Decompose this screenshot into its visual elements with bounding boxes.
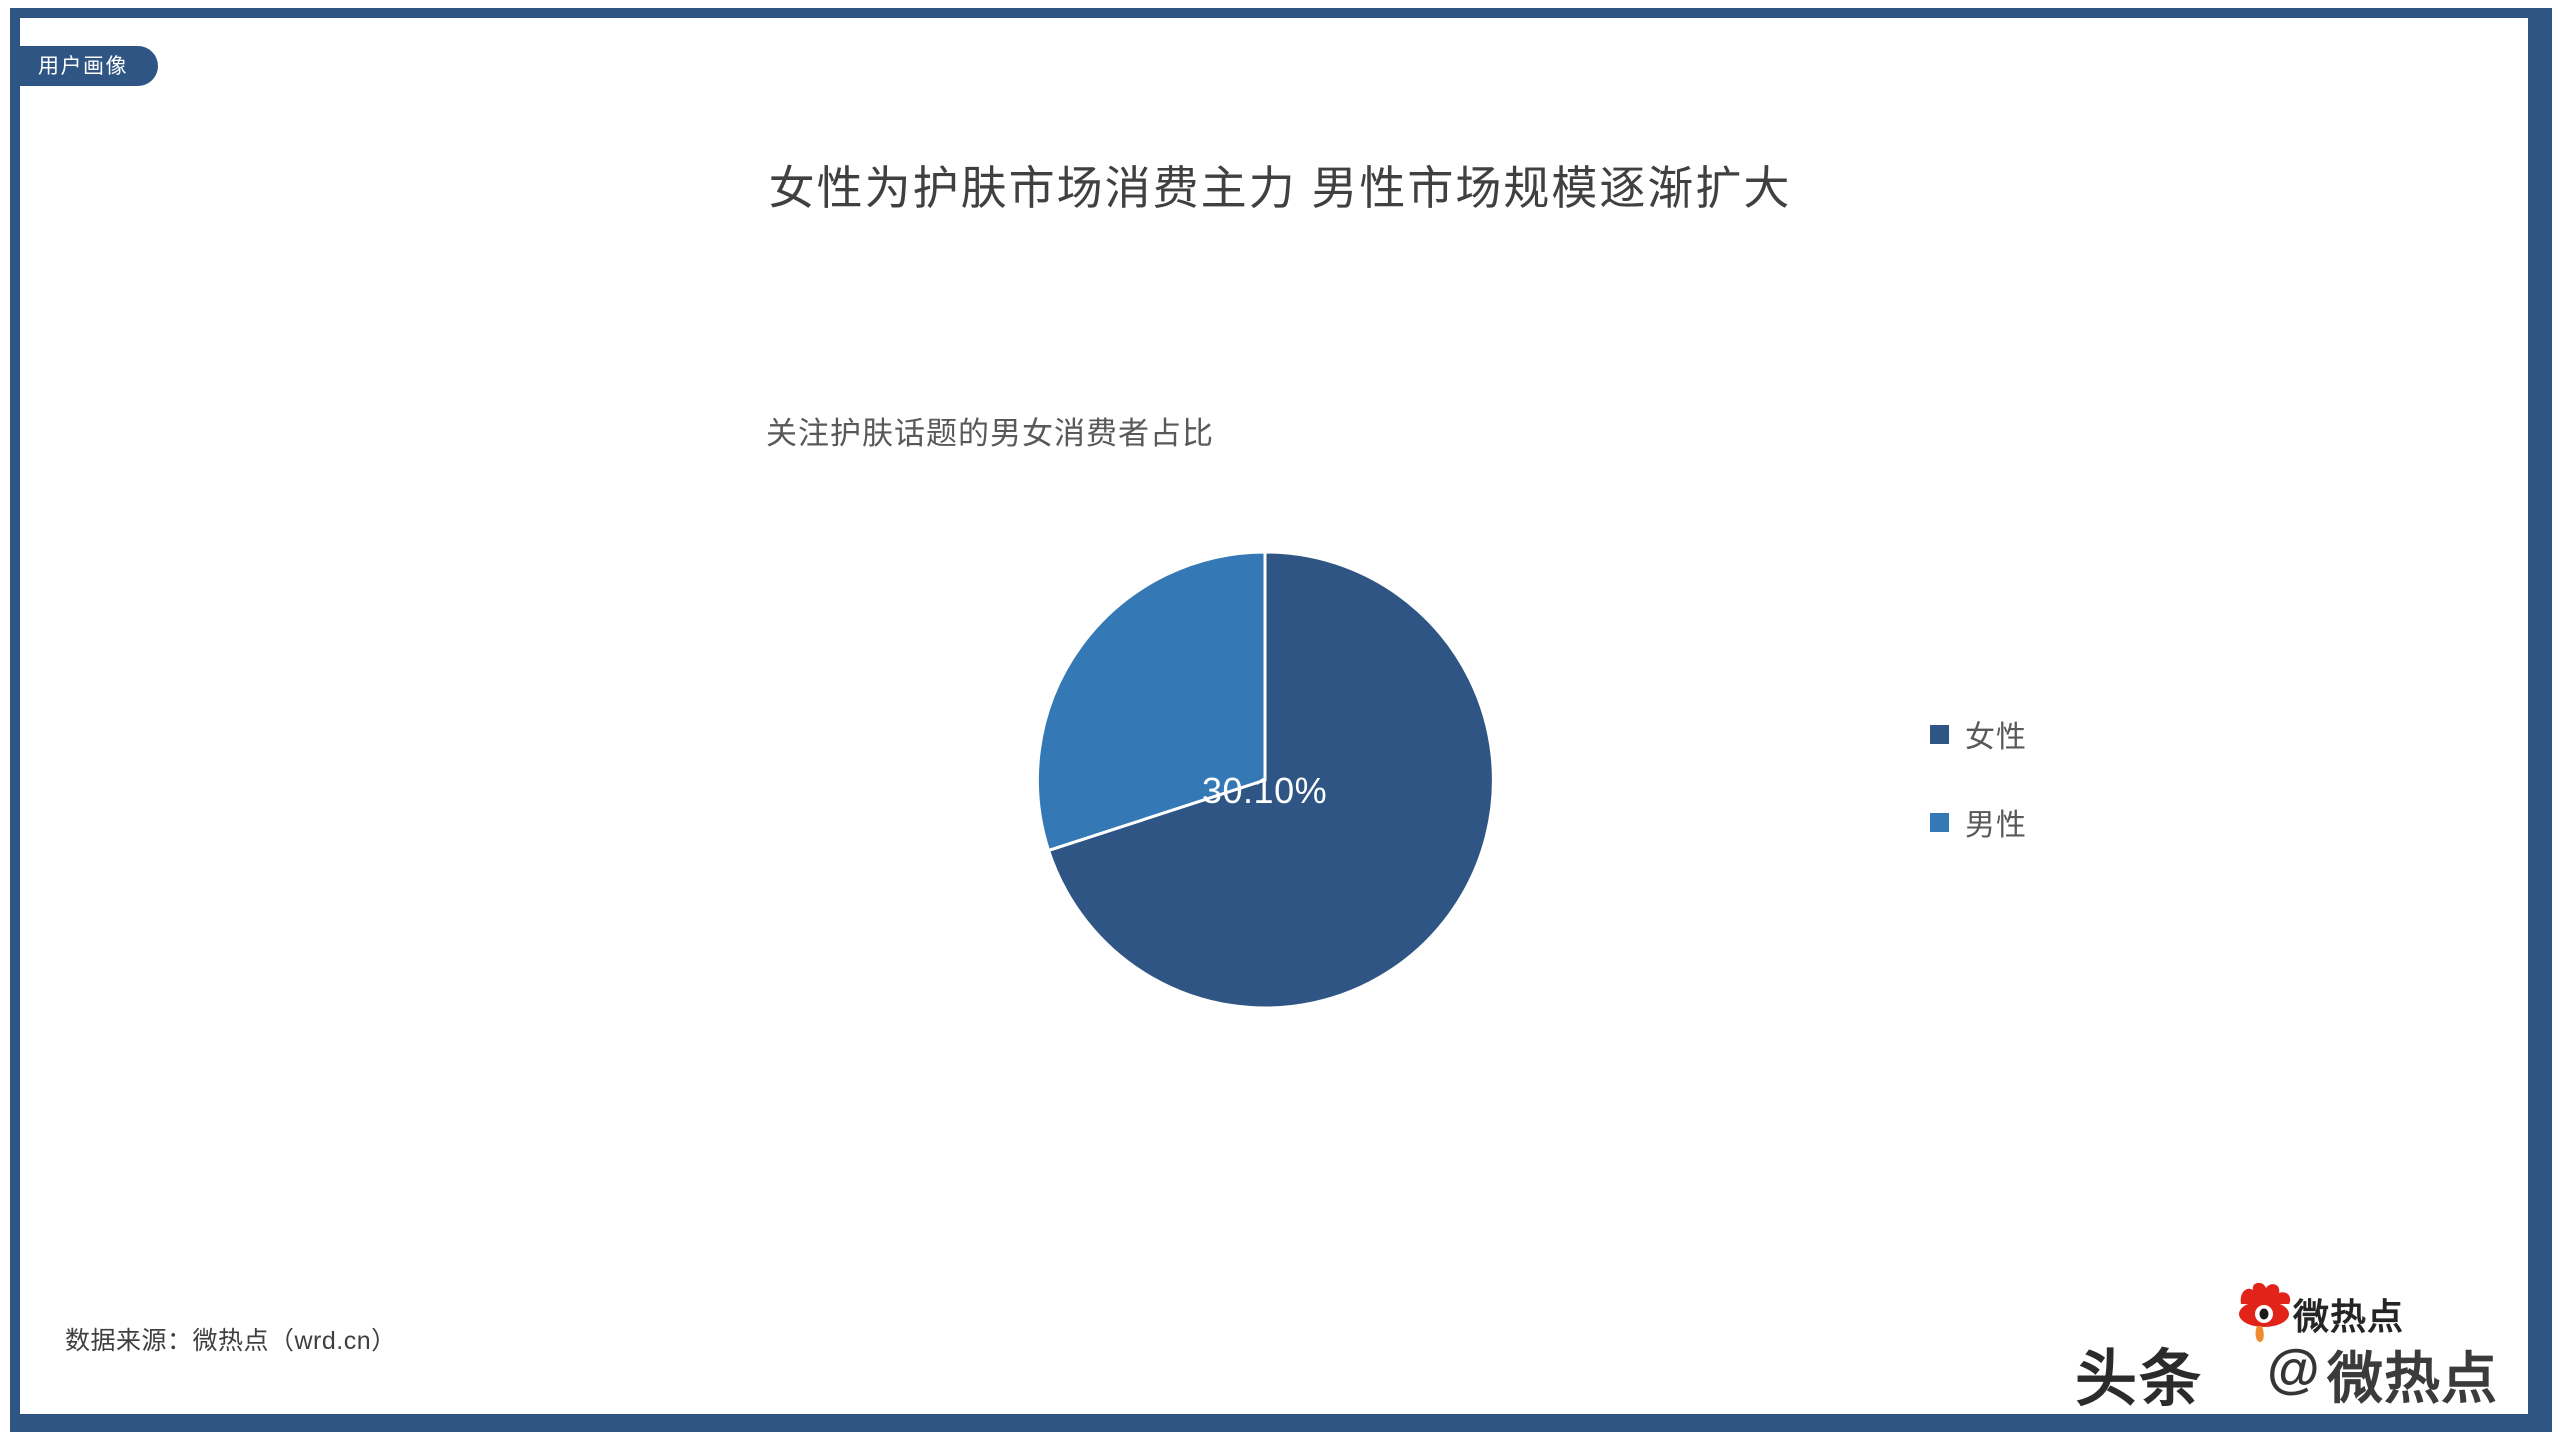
pie-label-female: 69.90% [1580, 900, 1705, 942]
legend-item-female[interactable]: 女性 [1930, 690, 2210, 778]
chart-legend: 女性 男性 [1930, 690, 2210, 866]
slide-canvas: 用户画像 女性为护肤市场消费主力 男性市场规模逐渐扩大 关注护肤话题的男女消费者… [0, 0, 2560, 1440]
section-tab-user-profile[interactable]: 用户画像 [10, 46, 158, 86]
page-title: 女性为护肤市场消费主力 男性市场规模逐渐扩大 [0, 152, 2560, 218]
watermark-at-symbol: @ [2267, 1338, 2320, 1400]
chart-title: 关注护肤话题的男女消费者占比 [340, 408, 1640, 453]
legend-swatch-icon-male [1930, 813, 1949, 832]
legend-swatch-icon-female [1930, 725, 1949, 744]
legend-label-female: 女性 [1965, 712, 2027, 756]
legend-label-male: 男性 [1965, 800, 2027, 844]
watermark-account: 微热点 [2327, 1334, 2498, 1415]
source-note: 数据来源：微热点（wrd.cn） [65, 1321, 397, 1357]
slide-frame-right [2528, 8, 2552, 1432]
slide-frame-top [10, 8, 2552, 18]
section-tab-label: 用户画像 [38, 56, 128, 77]
legend-item-male[interactable]: 男性 [1930, 778, 2210, 866]
watermark: 微热点 头条 @ 微热点 [2075, 1282, 2505, 1412]
watermark-platform: 头条 [2075, 1328, 2203, 1418]
watermark-brand-text: 微热点 [2293, 1288, 2404, 1340]
slide-frame-left [10, 8, 20, 1432]
pie-chart: 关注护肤话题的男女消费者占比 69.90% 30.10% 女性 男性 [340, 330, 2240, 1310]
pie-label-male: 30.10% [1202, 770, 1327, 812]
